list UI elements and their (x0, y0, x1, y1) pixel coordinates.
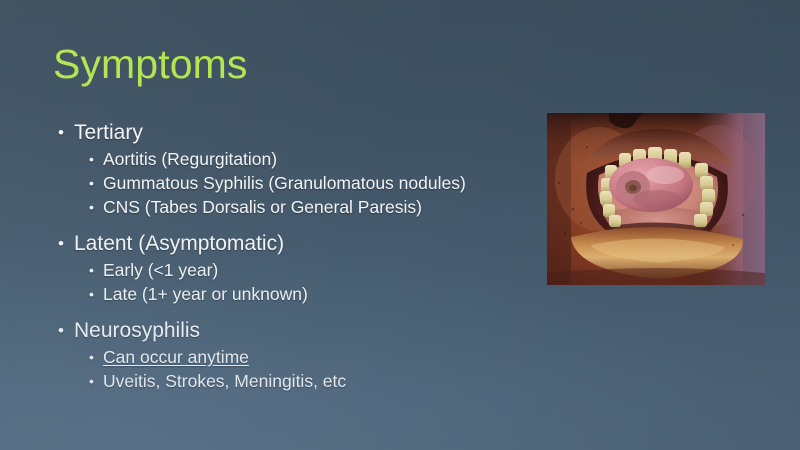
bullet-list: • Tertiary • Aortitis (Regurgitation) • … (56, 118, 536, 393)
bullet-level1: • Neurosyphilis (56, 316, 536, 345)
bullet-level2: • Early (<1 year) (56, 258, 536, 282)
bullet-level2: • Can occur anytime (56, 345, 536, 369)
bullet-glyph-icon: • (89, 345, 94, 369)
bullet-level2: • Gummatous Syphilis (Granulomatous nodu… (56, 171, 536, 195)
clinical-photo (547, 113, 765, 285)
bullet-level2-label: Late (1+ year or unknown) (103, 284, 308, 304)
bullet-glyph-icon: • (89, 258, 94, 282)
sublist: • Early (<1 year) • Late (1+ year or unk… (56, 258, 536, 306)
sublist: • Can occur anytime • Uveitis, Strokes, … (56, 345, 536, 393)
bullet-level1-label: Neurosyphilis (74, 319, 200, 342)
bullet-glyph-icon: • (89, 282, 94, 306)
bullet-level1: • Tertiary (56, 118, 536, 147)
bullet-level2: • Uveitis, Strokes, Meningitis, etc (56, 369, 536, 393)
bullet-level2-label: Aortitis (Regurgitation) (103, 149, 277, 169)
bullet-level2-label: Gummatous Syphilis (Granulomatous nodule… (103, 173, 466, 193)
slide: Symptoms • Tertiary • Aortitis (Regurgit… (0, 0, 800, 450)
bullet-glyph-icon: • (58, 316, 64, 345)
bullet-glyph-icon: • (89, 171, 94, 195)
bullet-glyph-icon: • (58, 229, 64, 258)
bullet-glyph-icon: • (89, 147, 94, 171)
page-title: Symptoms (53, 40, 247, 88)
bullet-level2-label: Early (<1 year) (103, 260, 218, 280)
bullet-level2-label: Uveitis, Strokes, Meningitis, etc (103, 371, 346, 391)
bullet-level1-label: Tertiary (74, 121, 143, 144)
sublist: • Aortitis (Regurgitation) • Gummatous S… (56, 147, 536, 219)
bullet-level2: • Aortitis (Regurgitation) (56, 147, 536, 171)
group-spacer (56, 219, 536, 229)
group-spacer (56, 306, 536, 316)
gummatous-nodule (609, 158, 693, 212)
bullet-glyph-icon: • (89, 195, 94, 219)
bullet-level2-label-underlined: Can occur anytime (103, 347, 249, 367)
bullet-glyph-icon: • (89, 369, 94, 393)
bullet-level2: • Late (1+ year or unknown) (56, 282, 536, 306)
bullet-level2: • CNS (Tabes Dorsalis or General Paresis… (56, 195, 536, 219)
bullet-glyph-icon: • (58, 118, 64, 147)
bullet-group-tertiary: • Tertiary • Aortitis (Regurgitation) • … (56, 118, 536, 219)
bullet-level2-label: CNS (Tabes Dorsalis or General Paresis) (103, 197, 422, 217)
bullet-group-latent: • Latent (Asymptomatic) • Early (<1 year… (56, 229, 536, 306)
bullet-level1: • Latent (Asymptomatic) (56, 229, 536, 258)
bullet-group-neurosyphilis: • Neurosyphilis • Can occur anytime • Uv… (56, 316, 536, 393)
bullet-level1-label: Latent (Asymptomatic) (74, 232, 284, 255)
clinical-photo-illustration (547, 113, 765, 285)
